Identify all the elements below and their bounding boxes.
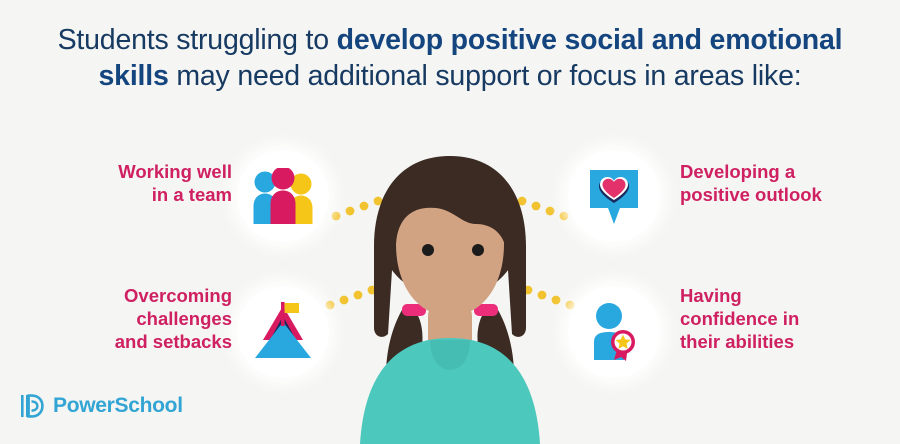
label-outlook-line-1: Developing a [680, 161, 795, 182]
infographic-canvas: Students struggling to develop positive … [0, 0, 900, 444]
icon-bubble-challenge [237, 286, 329, 378]
label-team-line-1: Working well [118, 161, 232, 182]
label-confidence-line-2: confidence in [680, 308, 799, 329]
label-team-line-2: in a team [152, 184, 232, 205]
mountain-flag-icon [251, 302, 315, 362]
label-confidence-line-1: Having [680, 285, 742, 306]
powerschool-logo[interactable]: PowerSchool [20, 392, 183, 420]
label-challenge-line-2: challenges [136, 308, 232, 329]
icon-bubble-team [237, 150, 329, 242]
page-title: Students struggling to develop positive … [26, 22, 874, 94]
three-people-icon [252, 168, 314, 224]
character-eye-right [472, 244, 484, 256]
headline-part1: Students struggling to [58, 24, 337, 56]
icon-bubble-confidence [568, 286, 660, 378]
label-overcoming-challenges: Overcoming challenges and setbacks [20, 284, 232, 353]
label-having-confidence: Having confidence in their abilities [680, 284, 890, 353]
label-confidence-line-3: their abilities [680, 331, 794, 352]
heart-speech-bubble-icon [585, 166, 643, 226]
powerschool-p-logo-icon [20, 392, 46, 420]
headline-part2: may need additional support or focus in … [169, 60, 802, 92]
icon-bubble-outlook [568, 150, 660, 242]
character-eye-left [422, 244, 434, 256]
label-working-well-in-a-team: Working well in a team [40, 160, 232, 206]
label-challenge-line-1: Overcoming [124, 285, 232, 306]
label-challenge-line-3: and setbacks [115, 331, 232, 352]
label-outlook-line-2: positive outlook [680, 184, 822, 205]
student-character-illustration [330, 150, 570, 444]
person-award-ribbon-icon [585, 302, 643, 362]
powerschool-wordmark: PowerSchool [53, 394, 183, 418]
label-developing-a-positive-outlook: Developing a positive outlook [680, 160, 890, 206]
